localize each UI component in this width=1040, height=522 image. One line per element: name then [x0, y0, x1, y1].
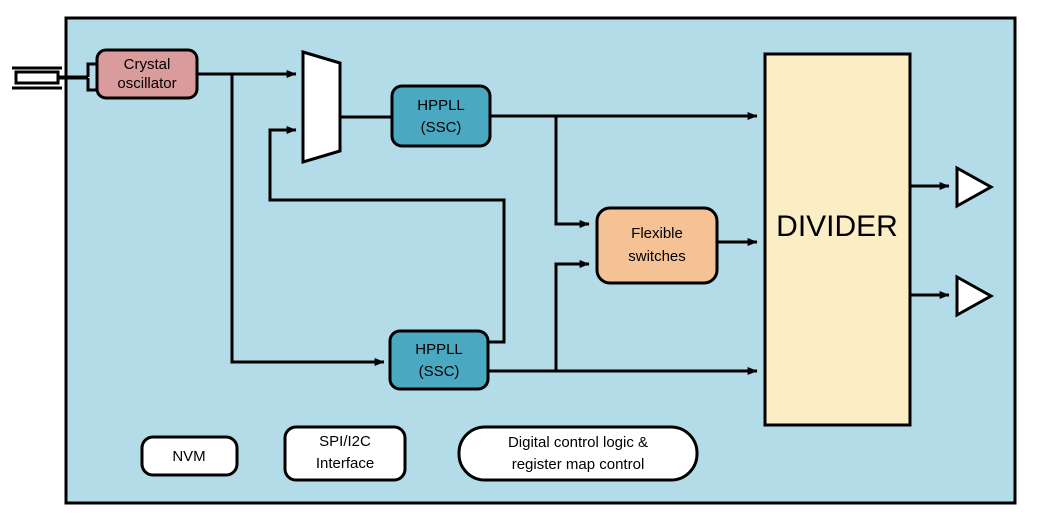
hppll-top-label-line2: (SSC) — [421, 119, 462, 136]
crystal-oscillator-block[interactable]: Crystal oscillator — [97, 50, 197, 98]
crystal-body — [16, 72, 58, 83]
divider-block[interactable]: DIVIDER — [765, 54, 910, 425]
spi-i2c-label-line1: SPI/I2C — [319, 433, 371, 450]
nvm-block[interactable]: NVM — [142, 437, 237, 475]
hppll-top-body[interactable] — [392, 86, 490, 146]
block-diagram-root: Crystal oscillator HPPLL (SSC) HPPLL (SS… — [0, 0, 1040, 522]
mux-block[interactable] — [303, 52, 340, 162]
flexible-switches-label-line1: Flexible — [631, 225, 683, 242]
flexible-switches-block[interactable]: Flexible switches — [597, 208, 717, 283]
spi-i2c-block[interactable]: SPI/I2C Interface — [285, 427, 405, 480]
flexible-switches-label-line2: switches — [628, 248, 686, 265]
hppll-top-label-line1: HPPLL — [417, 97, 465, 114]
digital-control-label-line1: Digital control logic & — [508, 434, 648, 451]
block-diagram-canvas: Crystal oscillator HPPLL (SSC) HPPLL (SS… — [0, 0, 1040, 522]
mux-body[interactable] — [303, 52, 340, 162]
crystal-oscillator-label-line1: Crystal — [124, 56, 171, 73]
nvm-label: NVM — [172, 448, 205, 465]
hppll-bottom-label-line1: HPPLL — [415, 341, 463, 358]
hppll-bottom-label-line2: (SSC) — [419, 363, 460, 380]
digital-control-block[interactable]: Digital control logic & register map con… — [459, 427, 697, 480]
digital-control-label-line2: register map control — [512, 456, 645, 473]
crystal-oscillator-label-line2: oscillator — [117, 75, 176, 92]
hppll-top-block[interactable]: HPPLL (SSC) — [392, 86, 490, 146]
hppll-bottom-block[interactable]: HPPLL (SSC) — [390, 331, 488, 389]
spi-i2c-label-line2: Interface — [316, 455, 374, 472]
hppll-bottom-body[interactable] — [390, 331, 488, 389]
divider-label: DIVIDER — [776, 210, 898, 243]
flexible-switches-body[interactable] — [597, 208, 717, 283]
